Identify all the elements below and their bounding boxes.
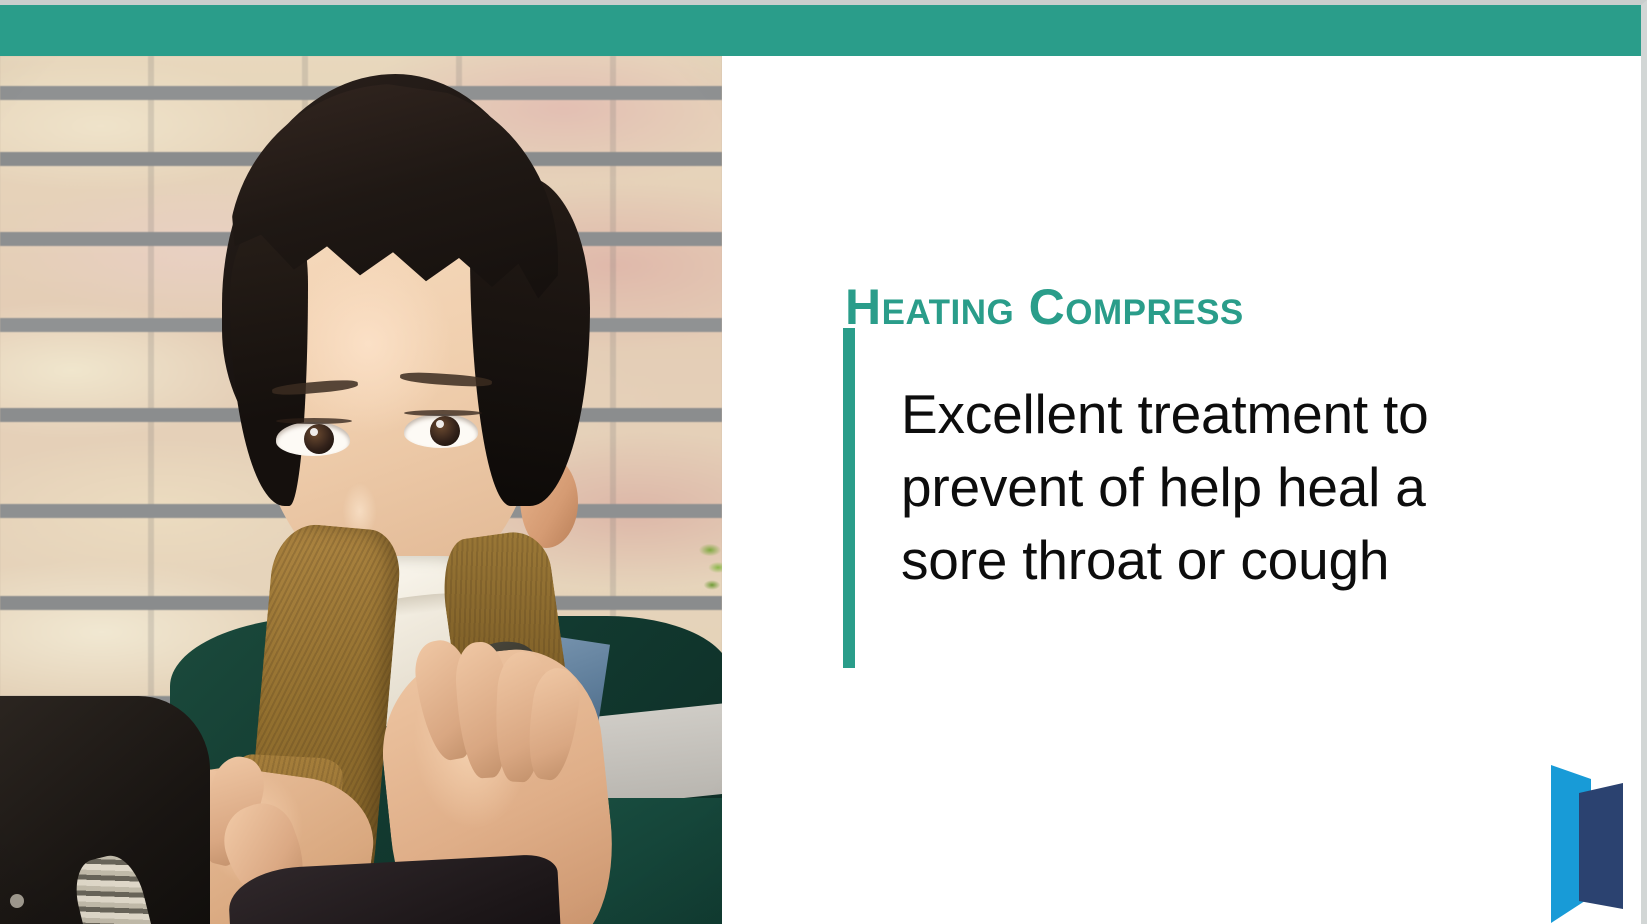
- top-banner: [0, 5, 1641, 56]
- eyelid-left: [276, 418, 352, 424]
- eye-glint-left: [310, 428, 318, 436]
- body-line-1: Excellent treatment to: [901, 378, 1429, 451]
- child-figure: [0, 56, 722, 924]
- body-line-3: sore throat or cough: [901, 524, 1429, 597]
- garment-button: [10, 894, 24, 908]
- slide: Heating Compress Excellent treatment to …: [0, 0, 1647, 924]
- body-line-2: prevent of help heal a: [901, 451, 1429, 524]
- quote-block: Excellent treatment to prevent of help h…: [843, 328, 1429, 668]
- open-book-logo: [1465, 749, 1625, 924]
- iris-right: [430, 416, 460, 446]
- iris-left: [304, 424, 334, 454]
- body-text: Excellent treatment to prevent of help h…: [901, 378, 1429, 597]
- eyelid-right: [404, 410, 482, 416]
- logo-panel-right: [1579, 783, 1623, 909]
- accent-bar: [843, 328, 855, 668]
- photo-panel: [0, 56, 722, 924]
- eye-glint-right: [436, 420, 444, 428]
